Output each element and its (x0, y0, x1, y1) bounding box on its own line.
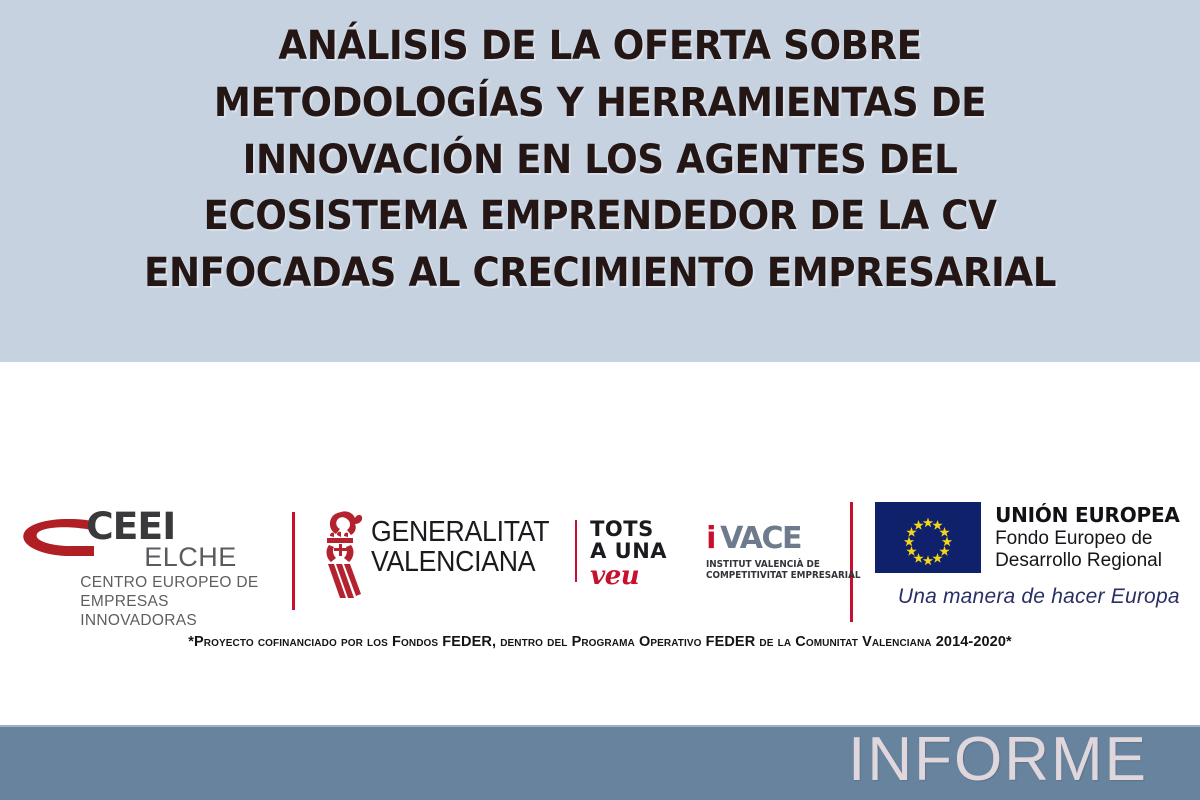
ivace-wordmark: i VACE (706, 524, 828, 554)
generalitat-name-line-2: VALENCIANA (371, 548, 549, 578)
generalitat-coat-of-arms-icon (317, 508, 363, 602)
ceei-lockup: CEEI ELCHE (20, 510, 278, 562)
logo-divider-1 (292, 512, 295, 610)
generalitat-name: GENERALITAT VALENCIANA (371, 518, 549, 578)
generalitat-text-lockup: GENERALITAT VALENCIANA TOTS A UNA veu (363, 508, 667, 590)
title-banner: ANÁLISIS DE LA OFERTA SOBRE METODOLOGÍAS… (0, 0, 1200, 362)
document-type-label: INFORME (848, 726, 1148, 794)
ivace-subtitle-line-2: COMPETITIVITAT EMPRESARIAL (706, 570, 819, 581)
ceei-subtitle: CENTRO EUROPEO DE EMPRESAS INNOVADORAS (20, 574, 278, 631)
title-line-2: METODOLOGÍAS Y HERRAMIENTAS DE (42, 75, 1158, 132)
title-line-4: ECOSISTEMA EMPRENDEDOR DE LA CV (42, 188, 1158, 245)
eu-title: UNIÓN EUROPEA (995, 504, 1180, 528)
ceei-city-label: ELCHE (144, 544, 237, 571)
ivace-initial: i (706, 524, 716, 554)
ceei-wordmark: CEEI (86, 508, 175, 545)
funding-footnote: *Proyecto cofinanciado por los Fondos FE… (0, 634, 1200, 650)
ivace-subtitle-line-1: INSTITUT VALENCIÀ DE (706, 559, 819, 570)
european-union-logo: UNIÓN EUROPEA Fondo Europeo de Desarroll… (875, 502, 1180, 609)
ivace-subtitle: INSTITUT VALENCIÀ DE COMPETITIVITAT EMPR… (706, 559, 819, 581)
slogan-line-3: veu (590, 563, 667, 590)
eu-stars-icon (875, 502, 981, 573)
eu-subtitle-line-1: Fondo Europeo de (995, 528, 1180, 551)
bottom-bar: INFORME (0, 725, 1200, 800)
ivace-logo: i VACE INSTITUT VALENCIÀ DE COMPETITIVIT… (706, 502, 828, 581)
ceei-elche-logo: CEEI ELCHE CENTRO EUROPEO DE EMPRESAS IN… (20, 502, 278, 631)
page-title: ANÁLISIS DE LA OFERTA SOBRE METODOLOGÍAS… (42, 18, 1158, 302)
slogan-line-1: TOTS (590, 518, 667, 540)
eu-text-block: UNIÓN EUROPEA Fondo Europeo de Desarroll… (981, 502, 1180, 573)
sponsor-logo-row: CEEI ELCHE CENTRO EUROPEO DE EMPRESAS IN… (0, 502, 1200, 622)
generalitat-valenciana-logo: GENERALITAT VALENCIANA TOTS A UNA veu (317, 502, 667, 602)
eu-slogan: Una manera de hacer Europa (875, 585, 1180, 609)
slogan-line-2: A UNA (590, 540, 667, 562)
ivace-wordmark-rest: VACE (720, 524, 801, 554)
title-line-3: INNOVACIÓN EN LOS AGENTES DEL (42, 132, 1158, 189)
title-line-5: ENFOCADAS AL CRECIMIENTO EMPRESARIAL (42, 245, 1158, 302)
eu-lockup: UNIÓN EUROPEA Fondo Europeo de Desarroll… (875, 502, 1180, 573)
title-line-1: ANÁLISIS DE LA OFERTA SOBRE (42, 18, 1158, 75)
eu-subtitle-line-2: Desarrollo Regional (995, 550, 1180, 573)
generalitat-name-line-1: GENERALITAT (371, 518, 549, 548)
ceei-subtitle-line-2: EMPRESAS INNOVADORAS (80, 593, 278, 631)
logo-divider-3 (850, 502, 853, 622)
european-union-flag-icon (875, 502, 981, 573)
tots-a-una-veu-slogan: TOTS A UNA veu (590, 518, 667, 590)
ceei-subtitle-line-1: CENTRO EUROPEO DE (80, 574, 278, 593)
generalitat-inner-divider (575, 520, 577, 582)
sponsors-section: CEEI ELCHE CENTRO EUROPEO DE EMPRESAS IN… (0, 362, 1200, 725)
